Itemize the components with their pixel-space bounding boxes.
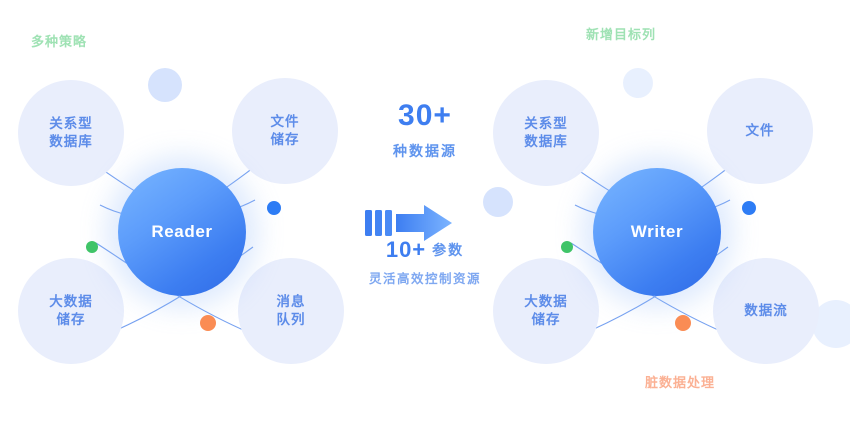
bubble-line: 关系型: [49, 115, 93, 133]
bubble-bigdata-storage-right[interactable]: 大数据 储存: [493, 258, 599, 364]
core-label: Writer: [631, 222, 683, 242]
core-sphere-writer[interactable]: Writer: [593, 168, 721, 296]
decorative-circle-1: [148, 68, 182, 102]
bubble-file-right[interactable]: 文件: [707, 78, 813, 184]
stat-datasource-count: 30+: [345, 100, 505, 132]
bubble-line: 文件: [746, 122, 775, 140]
bubble-line: 数据库: [524, 133, 568, 151]
status-dot-blue-left: [267, 201, 281, 215]
bubble-line: 储存: [57, 311, 86, 329]
bubble-line: 关系型: [524, 115, 568, 133]
bubble-line: 队列: [277, 311, 306, 329]
status-dot-green-right: [561, 241, 573, 253]
status-dot-blue-right: [742, 201, 756, 215]
tag-multi-strategy: 多种策略: [31, 35, 87, 48]
stat-params-unit: 参数: [432, 242, 464, 258]
tag-new-target-column: 新增目标列: [586, 28, 656, 41]
core-sphere-reader[interactable]: Reader: [118, 168, 246, 296]
bubble-line: 文件: [271, 113, 300, 131]
bubble-file-storage-left[interactable]: 文件 储存: [232, 78, 338, 184]
bubble-relational-db-right[interactable]: 关系型 数据库: [493, 80, 599, 186]
bubble-line: 大数据: [524, 293, 568, 311]
status-dot-green-left: [86, 241, 98, 253]
diagram-canvas: 关系型 数据库 文件 储存 大数据 储存 消息 队列 Reader 多种策略 3…: [0, 0, 850, 434]
status-dot-orange-left: [200, 315, 216, 331]
stat-params-row: 10+参数: [345, 237, 505, 263]
bubble-message-queue-left[interactable]: 消息 队列: [238, 258, 344, 364]
stat-params-count: 10+: [386, 237, 426, 262]
bubble-line: 大数据: [49, 293, 93, 311]
bubble-bigdata-storage-left[interactable]: 大数据 储存: [18, 258, 124, 364]
bubble-line: 数据库: [49, 133, 93, 151]
tag-dirty-data-processing: 脏数据处理: [645, 376, 715, 389]
core-label: Reader: [151, 222, 212, 242]
stat-params-caption: 灵活高效控制资源: [345, 268, 505, 287]
bubble-line: 储存: [532, 311, 561, 329]
bubble-data-stream-right[interactable]: 数据流: [713, 258, 819, 364]
stat-datasource-caption: 种数据源: [345, 141, 505, 161]
bubble-relational-db-left[interactable]: 关系型 数据库: [18, 80, 124, 186]
bubble-line: 储存: [271, 131, 300, 149]
decorative-circle-3: [623, 68, 653, 98]
bubble-line: 消息: [277, 293, 306, 311]
status-dot-orange-right: [675, 315, 691, 331]
bubble-line: 数据流: [744, 302, 788, 320]
arrow-slot: [345, 177, 505, 223]
center-stats: 30+ 种数据源 10+参数 灵活高效控制资源: [345, 100, 505, 287]
